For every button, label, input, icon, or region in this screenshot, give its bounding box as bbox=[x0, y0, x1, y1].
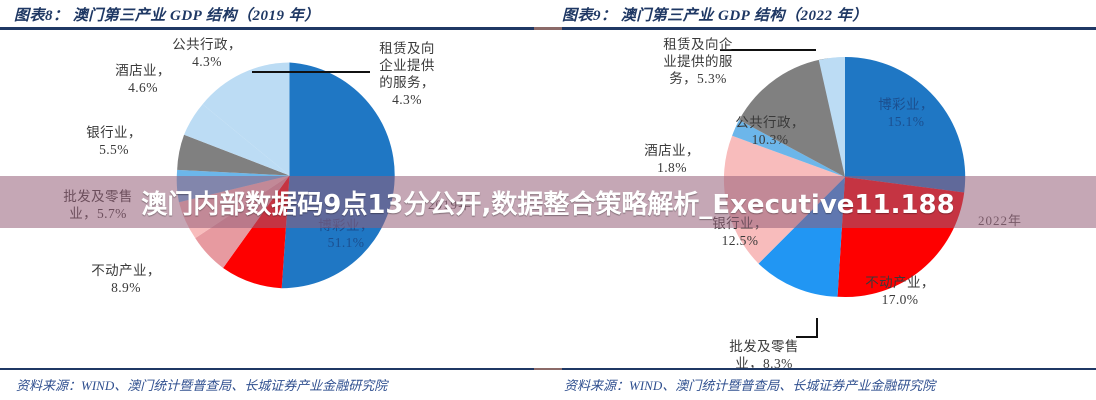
right-bottom-rule bbox=[548, 368, 1096, 370]
label-gaming-2022: 博彩业， 15.1% bbox=[860, 96, 952, 130]
left-top-rule bbox=[0, 27, 548, 30]
figure-page: 图表8： 澳门第三产业 GDP 结构（2019 年） bbox=[0, 0, 1096, 400]
label-realestate-2019: 不动产业， 8.9% bbox=[74, 262, 178, 296]
figure8-title: 图表8： 澳门第三产业 GDP 结构（2019 年） bbox=[14, 4, 538, 28]
label-wholesale-2022: 批发及零售 业，8.3% bbox=[708, 338, 820, 372]
label-leasing-2019: 租赁及向 企业提供 的服务， 4.3% bbox=[352, 40, 462, 108]
label-leasing-2022: 租赁及向企 业提供的服 务，5.3% bbox=[642, 36, 754, 87]
watermark-text: 澳门内部数据码9点13分公开,数据整合策略解析_Executive11.188 bbox=[0, 176, 1096, 228]
label-banking-2019: 银行业， 5.5% bbox=[68, 124, 160, 158]
label-realestate-2022: 不动产业， 17.0% bbox=[850, 274, 950, 308]
label-publicadmin-2022: 公共行政， 10.3% bbox=[720, 114, 820, 148]
figure9-title: 图表9： 澳门第三产业 GDP 结构（2022 年） bbox=[562, 4, 1086, 28]
left-bottom-rule bbox=[0, 368, 548, 370]
leader-wholesale-2022-h bbox=[796, 336, 818, 338]
label-hotel-2022: 酒店业， 1.8% bbox=[626, 142, 718, 176]
left-source-note: 资料来源：WIND、澳门统计暨普查局、长城证券产业金融研究院 bbox=[16, 375, 387, 394]
right-top-rule bbox=[548, 27, 1096, 30]
leader-wholesale-2022-v bbox=[816, 318, 818, 338]
label-hotel-2019: 酒店业， 4.6% bbox=[96, 62, 190, 96]
right-source-note: 资料来源：WIND、澳门统计暨普查局、长城证券产业金融研究院 bbox=[564, 375, 935, 394]
